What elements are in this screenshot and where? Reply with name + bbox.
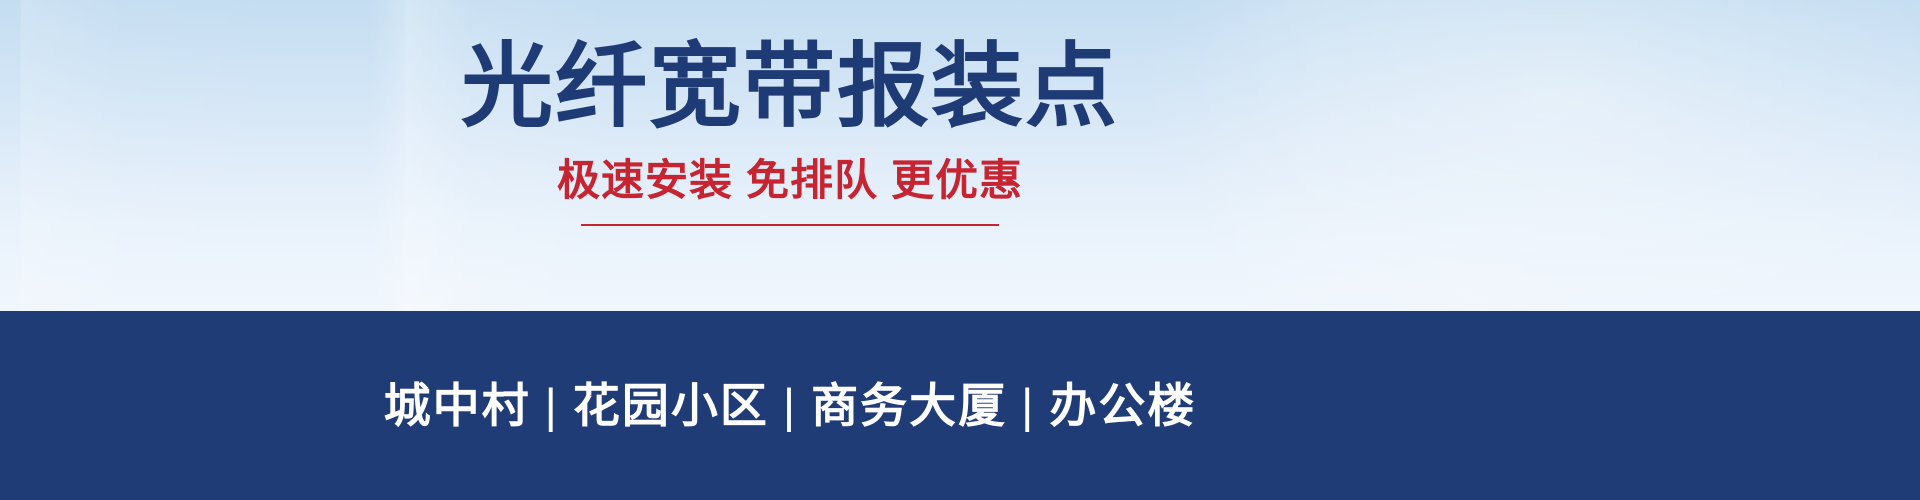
service-area-separator-2: | <box>769 382 811 429</box>
service-area-separator-1: | <box>531 382 573 429</box>
promo-banner: 光纤宽带报装点 极速安装 免排队 更优惠 城中村 | 花园小区 | 商务大厦 |… <box>0 0 1920 500</box>
hero-content-column: 光纤宽带报装点 极速安装 免排队 更优惠 <box>0 0 1580 311</box>
service-areas-list: 城中村 | 花园小区 | 商务大厦 | 办公楼 <box>384 382 1197 429</box>
subheadline-underline-rule <box>581 224 999 226</box>
service-area-item-4: 办公楼 <box>1049 382 1196 429</box>
service-areas-strip: 城中村 | 花园小区 | 商务大厦 | 办公楼 <box>0 311 1920 500</box>
banner-subheadline: 极速安装 免排队 更优惠 <box>557 160 1023 203</box>
service-area-item-3: 商务大厦 <box>811 382 1007 429</box>
banner-headline: 光纤宽带报装点 <box>461 41 1119 133</box>
service-area-item-2: 花园小区 <box>573 382 769 429</box>
strip-content-column: 城中村 | 花园小区 | 商务大厦 | 办公楼 <box>0 311 1580 500</box>
service-area-item-1: 城中村 <box>384 382 531 429</box>
hero-section: 光纤宽带报装点 极速安装 免排队 更优惠 <box>0 0 1920 311</box>
service-area-separator-3: | <box>1007 382 1049 429</box>
